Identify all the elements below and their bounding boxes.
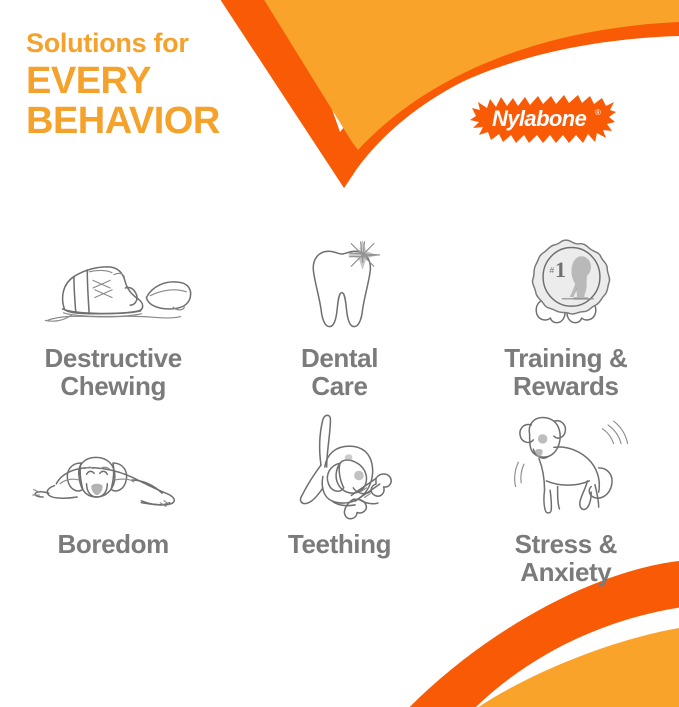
badge-rank: 1 (555, 257, 566, 282)
page-title: Solutions for EVERY BEHAVIOR (26, 30, 326, 140)
caption-line: Chewing (45, 372, 182, 400)
award-rosette-dog-icon: # 1 (511, 232, 621, 336)
puppy-chewing-bone-icon (277, 422, 401, 522)
chewed-shoe-icon (32, 232, 194, 336)
behavior-grid: Destructive Chewing Dental Care (0, 228, 679, 608)
logo-wordmark: Nylabone (492, 106, 587, 131)
logo-registered-mark: ® (595, 108, 601, 117)
caption-boredom: Boredom (58, 530, 169, 558)
caption-training-rewards: Training & Rewards (504, 344, 627, 400)
caption-line: Teething (288, 530, 391, 558)
caption-line: Dental (301, 344, 378, 372)
caption-line: Boredom (58, 530, 169, 558)
caption-line: Rewards (504, 372, 627, 400)
grid-item-stress-anxiety: Stress & Anxiety (453, 418, 679, 608)
grid-item-training-rewards: # 1 Training & Rewards (453, 228, 679, 418)
badge-number: # (549, 266, 554, 275)
caption-stress-anxiety: Stress & Anxiety (515, 530, 617, 586)
headline-line-1: Solutions for (26, 30, 326, 57)
grid-item-boredom: Boredom (0, 418, 226, 608)
caption-line: Training & (504, 344, 627, 372)
grid-item-dental-care: Dental Care (226, 228, 452, 418)
grid-item-teething: Teething (226, 418, 452, 608)
caption-line: Stress & (515, 530, 617, 558)
grid-item-destructive-chewing: Destructive Chewing (0, 228, 226, 418)
caption-dental-care: Dental Care (301, 344, 378, 400)
headline-line-2: EVERY (26, 62, 326, 100)
caption-line: Anxiety (515, 558, 617, 586)
bored-lying-dog-icon (28, 422, 198, 522)
anxious-shaking-dog-icon (504, 422, 628, 522)
caption-line: Destructive (45, 344, 182, 372)
caption-teething: Teething (288, 530, 391, 558)
bottom-swoosh-light-shape (464, 628, 679, 707)
caption-destructive-chewing: Destructive Chewing (45, 344, 182, 400)
sparkling-tooth-icon (287, 232, 391, 336)
headline-line-3: BEHAVIOR (26, 102, 326, 140)
chew-bone (345, 474, 392, 519)
nylabone-logo: Nylabone ® (468, 88, 616, 154)
caption-line: Care (301, 372, 378, 400)
infographic-canvas: Solutions for EVERY BEHAVIOR Nylabone ® (0, 0, 679, 707)
